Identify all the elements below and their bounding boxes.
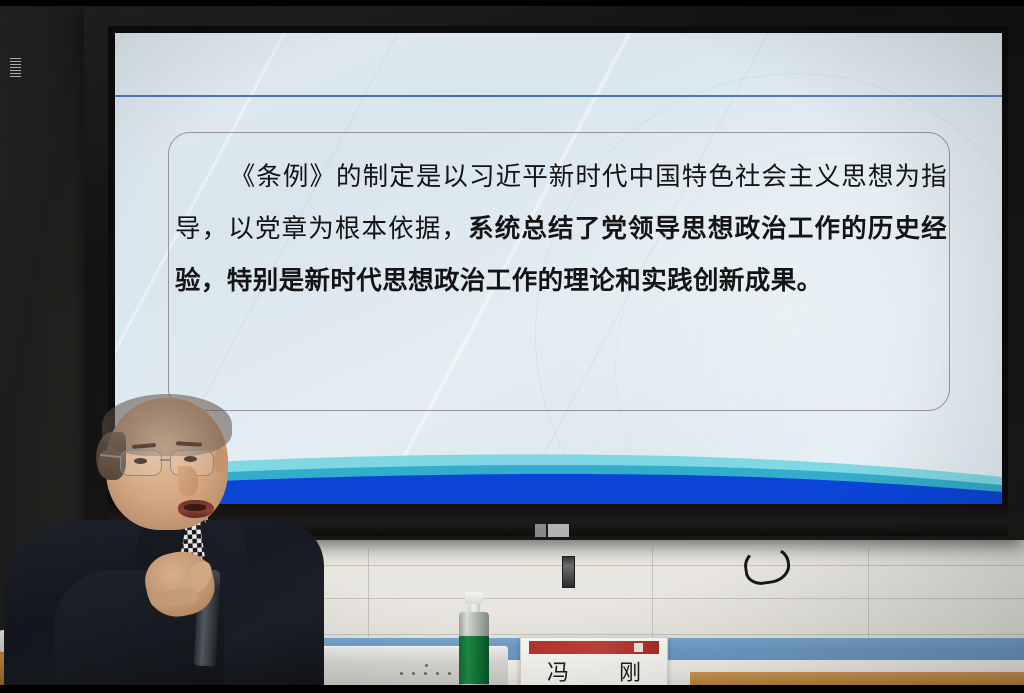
nameplate-red-band (529, 641, 659, 654)
top-black-bar (0, 0, 1024, 6)
indicator-dot (448, 672, 451, 675)
wall-tile-line (652, 548, 653, 640)
bottom-black-bar (0, 685, 1024, 693)
bottle-cap (465, 592, 483, 604)
speaker-mouth-opening (184, 504, 206, 511)
indicator-dot (412, 672, 415, 675)
bottle-label-texture (10, 58, 21, 78)
bottle-label (459, 636, 489, 684)
equipment-indicator-dot (425, 664, 428, 667)
nameplate-band-emblem-icon (634, 643, 643, 652)
indicator-dot (424, 672, 427, 675)
indicator-dot (436, 672, 439, 675)
equipment-indicator-dots (400, 672, 460, 678)
glasses-bridge (160, 459, 170, 461)
wall-sensor-device (562, 556, 575, 588)
wall-tile-line (868, 548, 869, 640)
speaker-glasses (120, 450, 226, 476)
display-brand-logo-icon (535, 524, 569, 537)
nameplate-speaker-name: 冯 刚 (521, 655, 667, 687)
indicator-dot (400, 672, 403, 675)
wall-tile-line (368, 548, 369, 640)
speaker-nose (178, 466, 198, 496)
water-bottle (459, 592, 489, 688)
glasses-lens-left (120, 450, 162, 476)
speaker-figure (38, 392, 338, 688)
screenshot-stage: 《条例》的制定是以习近平新时代中国特色社会主义思想为指导，以党章为根本依据，系统… (0, 0, 1024, 693)
slide-body-text: 《条例》的制定是以习近平新时代中国特色社会主义思想为指导，以党章为根本依据，系统… (175, 151, 947, 307)
slide-accent-rule (115, 95, 1002, 97)
